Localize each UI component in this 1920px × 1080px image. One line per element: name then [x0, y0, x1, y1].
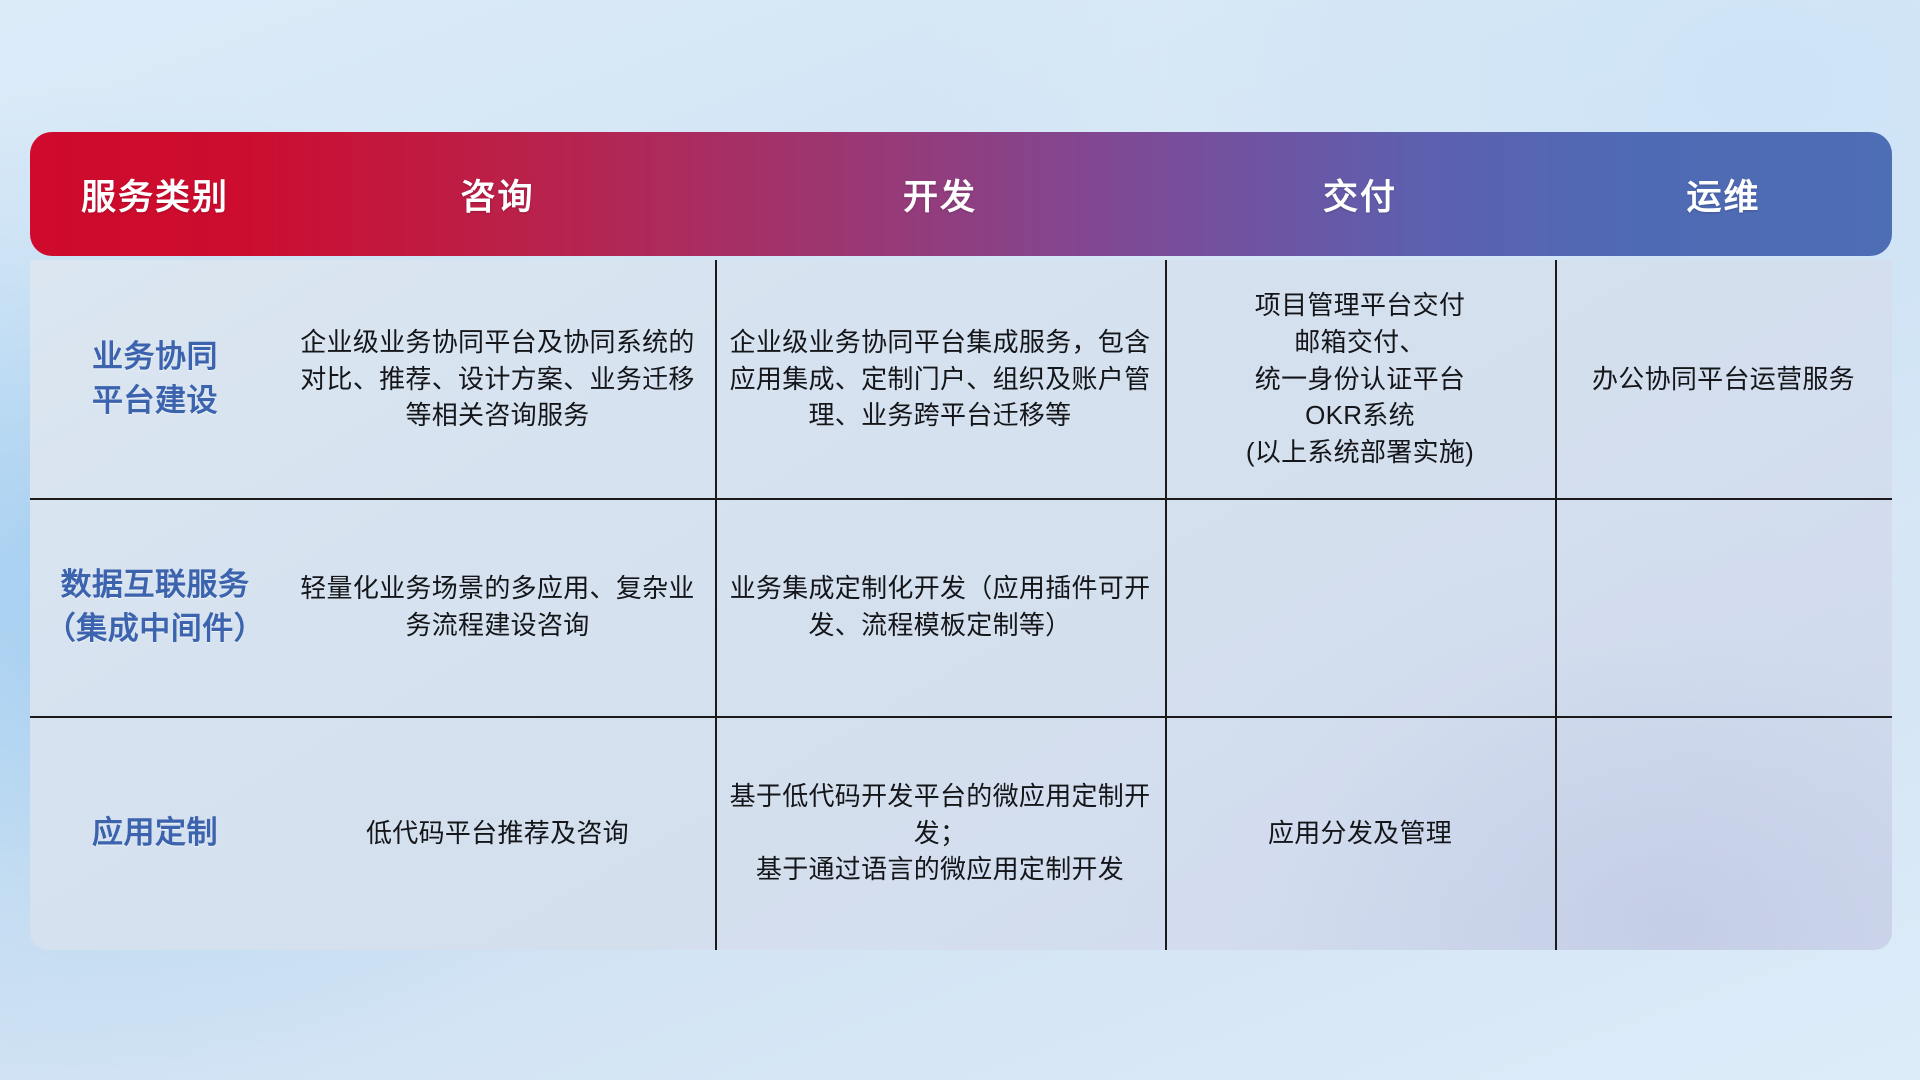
cell-text: 企业级业务协同平台集成服务，包含应用集成、定制门户、组织及账户管理、业务跨平台迁… — [729, 324, 1151, 435]
cell-operations — [1555, 716, 1892, 950]
table-body: 业务协同 平台建设 企业级业务协同平台及协同系统的对比、推荐、设计方案、业务迁移… — [30, 260, 1892, 950]
cell-consulting: 轻量化业务场景的多应用、复杂业务流程建设咨询 — [280, 498, 715, 716]
column-header-development: 开发 — [715, 169, 1165, 220]
row-label-text: 数据互联服务 （集成中间件） — [45, 563, 266, 651]
column-header-operations: 运维 — [1555, 169, 1892, 220]
cell-operations — [1555, 498, 1892, 716]
cell-text: 轻量化业务场景的多应用、复杂业务流程建设咨询 — [294, 570, 701, 644]
cell-delivery: 项目管理平台交付 邮箱交付、 统一身份认证平台 OKR系统 (以上系统部署实施) — [1165, 260, 1555, 498]
cell-consulting: 低代码平台推荐及咨询 — [280, 716, 715, 950]
row-label-cell: 数据互联服务 （集成中间件） — [30, 498, 280, 716]
cell-text: 低代码平台推荐及咨询 — [366, 815, 629, 852]
cell-operations: 办公协同平台运营服务 — [1555, 260, 1892, 498]
service-matrix-table: 服务类别 咨询 开发 交付 运维 业务协同 平台建设 企业级业务协同平台及协同系… — [30, 132, 1892, 950]
table-header-row: 服务类别 咨询 开发 交付 运维 — [30, 132, 1892, 256]
cell-development: 业务集成定制化开发（应用插件可开发、流程模板定制等） — [715, 498, 1165, 716]
row-label-cell: 业务协同 平台建设 — [30, 260, 280, 498]
cell-development: 企业级业务协同平台集成服务，包含应用集成、定制门户、组织及账户管理、业务跨平台迁… — [715, 260, 1165, 498]
cell-delivery: 应用分发及管理 — [1165, 716, 1555, 950]
cell-text: 应用分发及管理 — [1268, 815, 1452, 852]
table-row: 数据互联服务 （集成中间件） 轻量化业务场景的多应用、复杂业务流程建设咨询 业务… — [30, 498, 1892, 716]
slide-canvas: 服务类别 咨询 开发 交付 运维 业务协同 平台建设 企业级业务协同平台及协同系… — [0, 0, 1920, 1080]
row-label-cell: 应用定制 — [30, 716, 280, 950]
table-row: 应用定制 低代码平台推荐及咨询 基于低代码开发平台的微应用定制开发； 基于通过语… — [30, 716, 1892, 950]
row-label-text: 业务协同 平台建设 — [92, 335, 218, 423]
cell-consulting: 企业级业务协同平台及协同系统的对比、推荐、设计方案、业务迁移等相关咨询服务 — [280, 260, 715, 498]
cell-text: 项目管理平台交付 邮箱交付、 统一身份认证平台 OKR系统 (以上系统部署实施) — [1246, 287, 1474, 472]
cell-text: 业务集成定制化开发（应用插件可开发、流程模板定制等） — [729, 570, 1151, 644]
cell-delivery — [1165, 498, 1555, 716]
cell-development: 基于低代码开发平台的微应用定制开发； 基于通过语言的微应用定制开发 — [715, 716, 1165, 950]
cell-text: 基于低代码开发平台的微应用定制开发； 基于通过语言的微应用定制开发 — [729, 778, 1151, 889]
table-row: 业务协同 平台建设 企业级业务协同平台及协同系统的对比、推荐、设计方案、业务迁移… — [30, 260, 1892, 498]
row-label-text: 应用定制 — [92, 811, 218, 855]
column-header-consulting: 咨询 — [280, 169, 715, 220]
column-header-delivery: 交付 — [1165, 169, 1555, 220]
cell-text: 企业级业务协同平台及协同系统的对比、推荐、设计方案、业务迁移等相关咨询服务 — [294, 324, 701, 435]
cell-text: 办公协同平台运营服务 — [1592, 361, 1855, 398]
column-header-category: 服务类别 — [30, 169, 280, 220]
